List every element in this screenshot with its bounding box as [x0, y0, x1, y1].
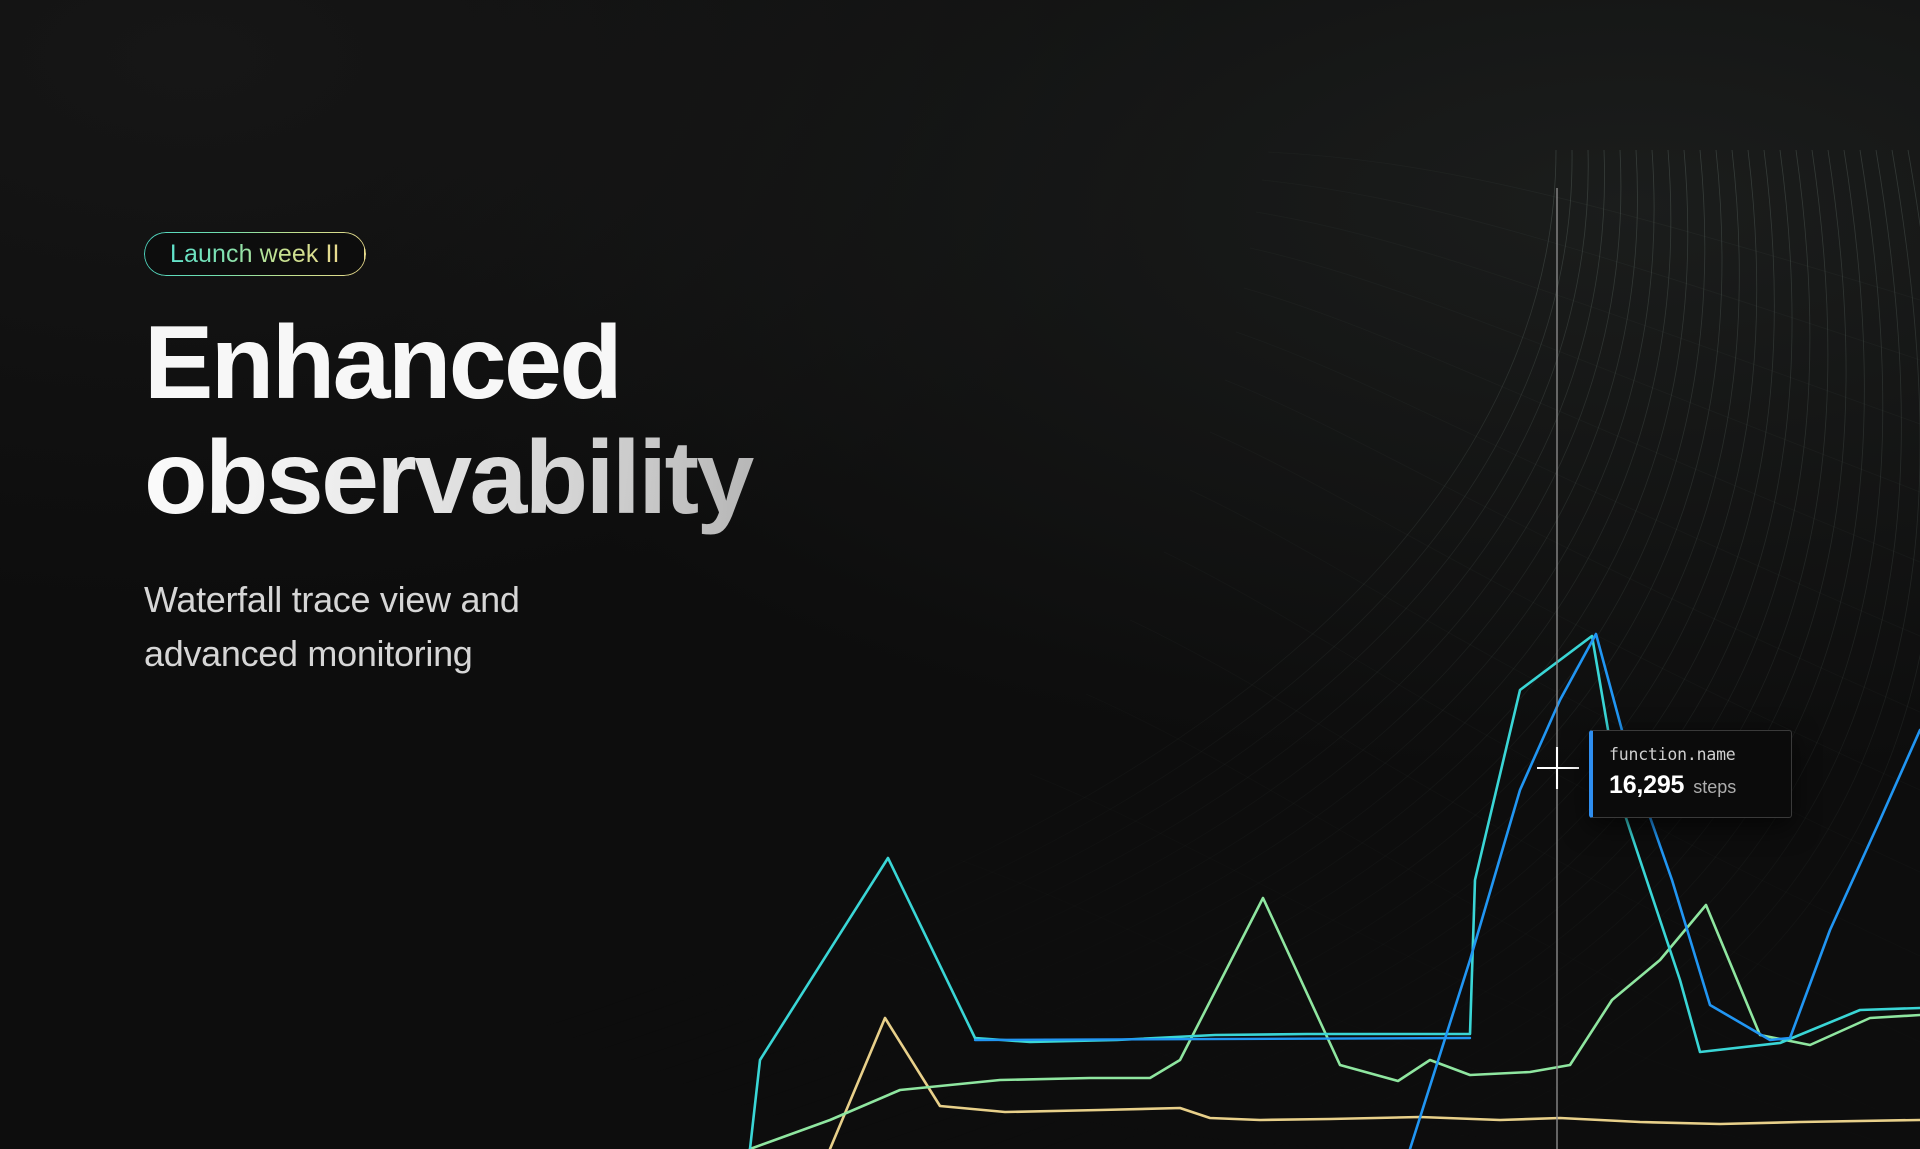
- badge-label: Launch week II: [170, 242, 340, 267]
- tooltip-title: function.name: [1609, 745, 1773, 764]
- launch-week-badge[interactable]: Launch week II: [144, 232, 366, 276]
- chart-tooltip[interactable]: function.name 16,295 steps: [1589, 730, 1792, 818]
- chart-series-green: [750, 898, 1920, 1149]
- page-title: Enhanced observability: [144, 306, 904, 537]
- chart-series-cyan: [750, 636, 1920, 1149]
- chart-series-blue: [1410, 634, 1920, 1149]
- crosshair-icon: [1537, 747, 1579, 789]
- tooltip-value: 16,295: [1609, 771, 1684, 800]
- tooltip-unit: steps: [1693, 777, 1736, 798]
- subtitle-line-1: Waterfall trace view and: [144, 573, 904, 627]
- chart-series-blue-baseline: [975, 1038, 1470, 1040]
- page-subtitle: Waterfall trace view and advanced monito…: [144, 573, 904, 681]
- headline-line-2: observability: [144, 421, 904, 536]
- headline-line-1: Enhanced: [144, 306, 904, 421]
- hero-banner: Launch week II Enhanced observability Wa…: [0, 0, 1920, 1149]
- hero-content: Launch week II Enhanced observability Wa…: [144, 232, 904, 681]
- subtitle-line-2: advanced monitoring: [144, 627, 904, 681]
- chart-series-yellow: [830, 1018, 1920, 1149]
- tooltip-metric-row: 16,295 steps: [1609, 771, 1773, 800]
